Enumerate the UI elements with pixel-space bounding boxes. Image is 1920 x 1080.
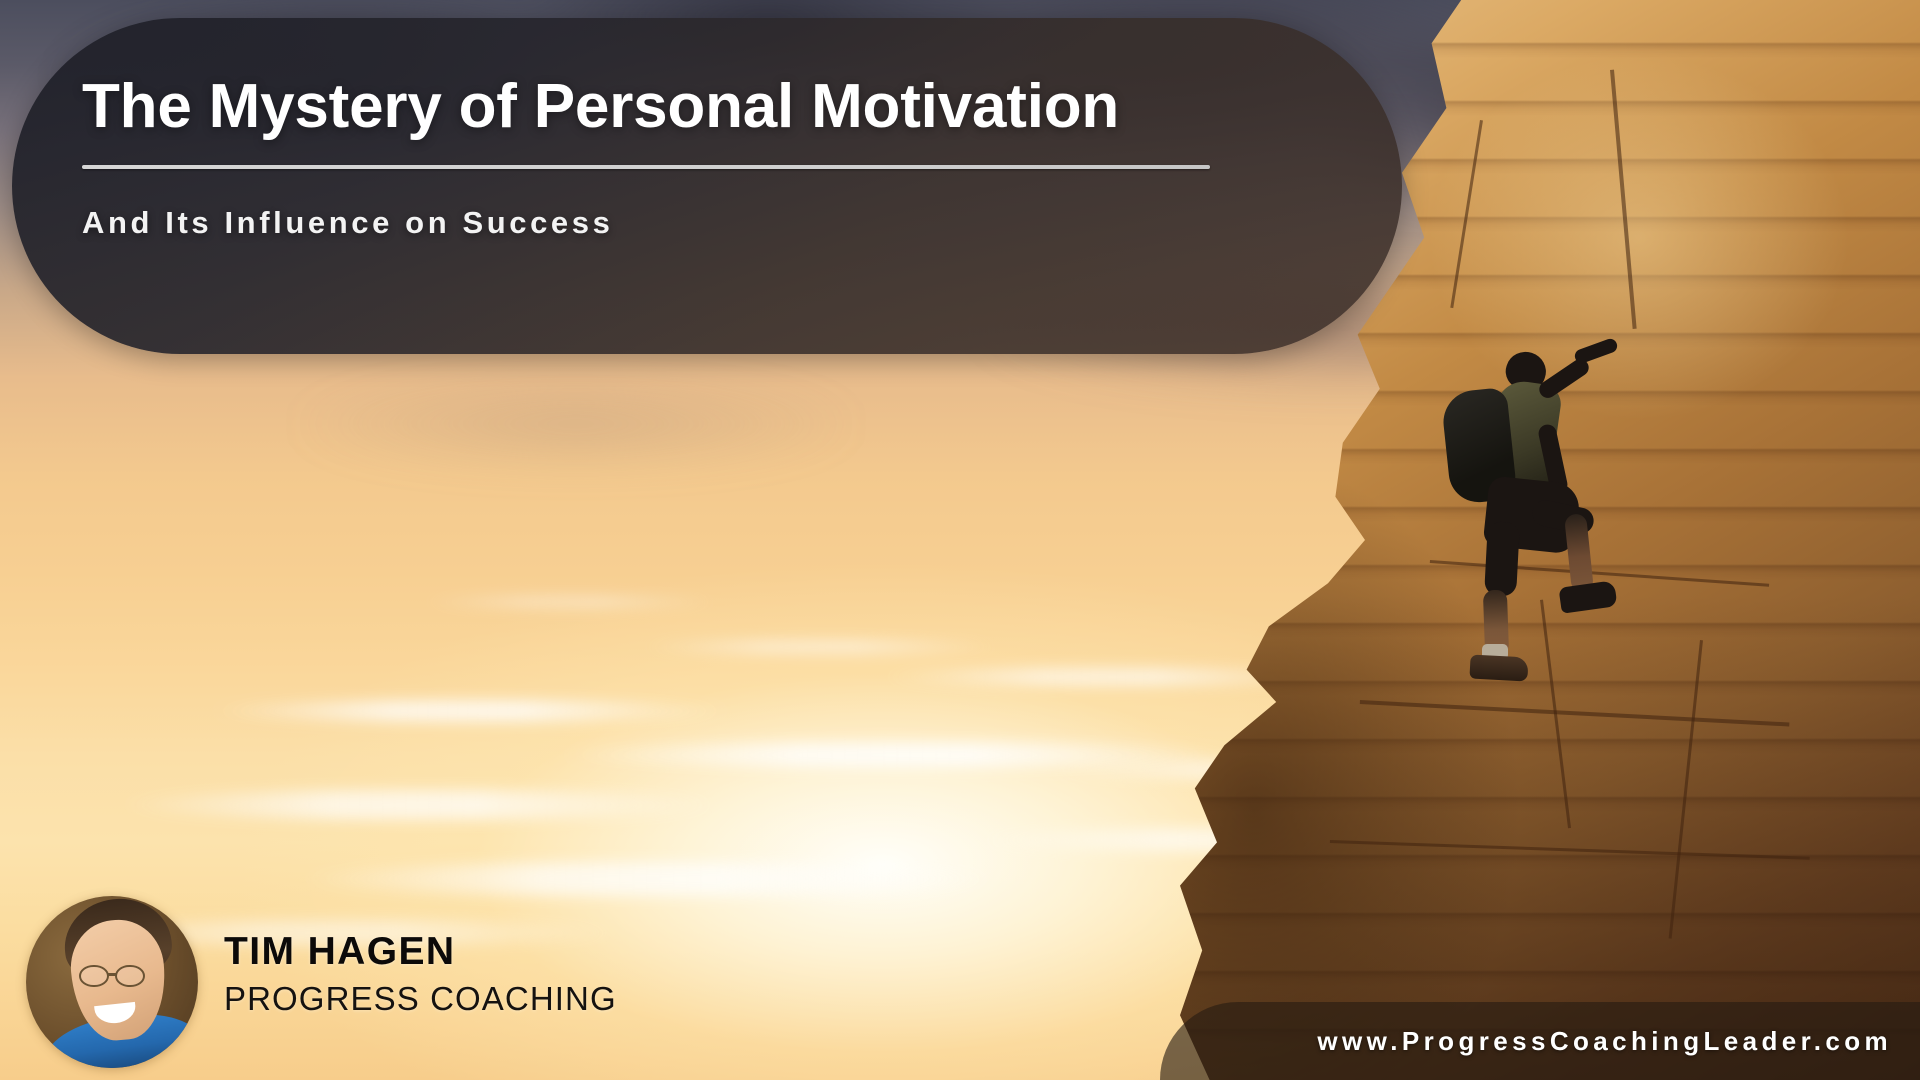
website-url-bar[interactable]: www.ProgressCoachingLeader.com — [1160, 1002, 1920, 1080]
author-company: PROGRESS COACHING — [224, 979, 617, 1019]
avatar — [26, 896, 198, 1068]
title-slide: The Mystery of Personal Motivation And I… — [0, 0, 1920, 1080]
title-panel: The Mystery of Personal Motivation And I… — [12, 18, 1402, 354]
avatar-glasses-right-lens — [115, 965, 144, 987]
author-name: TIM HAGEN — [224, 930, 617, 975]
climber-boot-lower — [1469, 654, 1528, 681]
author-text: TIM HAGEN PROGRESS COACHING — [224, 930, 617, 1034]
climber-boot-upper — [1558, 580, 1617, 614]
avatar-glasses-left-lens — [79, 965, 108, 987]
avatar-glasses-bridge — [107, 973, 117, 976]
title-content: The Mystery of Personal Motivation And I… — [82, 74, 1282, 241]
title-divider — [82, 165, 1210, 169]
page-title: The Mystery of Personal Motivation — [82, 74, 1282, 139]
website-url-text[interactable]: www.ProgressCoachingLeader.com — [1317, 1026, 1892, 1057]
page-subtitle: And Its Influence on Success — [82, 205, 1282, 241]
rock-climber-figure — [1440, 352, 1660, 682]
author-block: TIM HAGEN PROGRESS COACHING — [26, 896, 617, 1068]
climber-leg-straight-thigh — [1484, 521, 1520, 597]
